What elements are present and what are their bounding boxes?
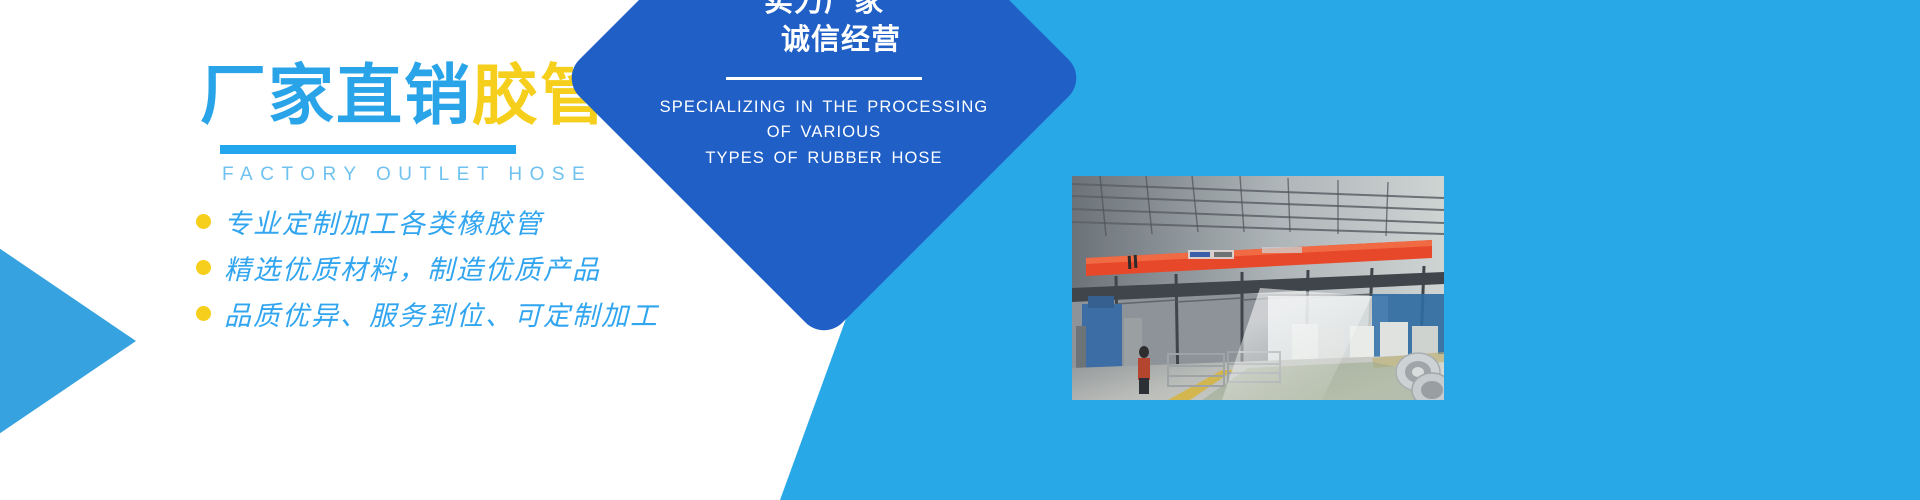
feature-list: 专业定制加工各类橡胶管 精选优质材料，制造优质产品 品质优异、服务到位、可定制加… bbox=[196, 200, 659, 338]
factory-photo-image bbox=[1072, 176, 1444, 400]
list-item: 品质优异、服务到位、可定制加工 bbox=[196, 292, 659, 334]
promo-banner: 厂家直销胶管 FACTORY OUTLET HOSE 专业定制加工各类橡胶管 精… bbox=[0, 0, 1920, 500]
bullet-dot-icon bbox=[196, 306, 211, 321]
feature-text: 精选优质材料，制造优质产品 bbox=[224, 248, 601, 287]
bullet-dot-icon bbox=[196, 214, 211, 229]
feature-text: 专业定制加工各类橡胶管 bbox=[224, 202, 543, 241]
feature-text: 品质优异、服务到位、可定制加工 bbox=[224, 294, 659, 333]
headline-blue-text: 厂家直销 bbox=[200, 58, 472, 132]
list-item: 精选优质材料，制造优质产品 bbox=[196, 246, 659, 288]
left-chevron-arrow-shape bbox=[0, 208, 136, 474]
title-underline-rule bbox=[220, 145, 516, 154]
list-item: 专业定制加工各类橡胶管 bbox=[196, 200, 659, 242]
factory-photo bbox=[1072, 176, 1444, 400]
bullet-dot-icon bbox=[196, 260, 211, 275]
subtitle-english: FACTORY OUTLET HOSE bbox=[222, 164, 720, 186]
